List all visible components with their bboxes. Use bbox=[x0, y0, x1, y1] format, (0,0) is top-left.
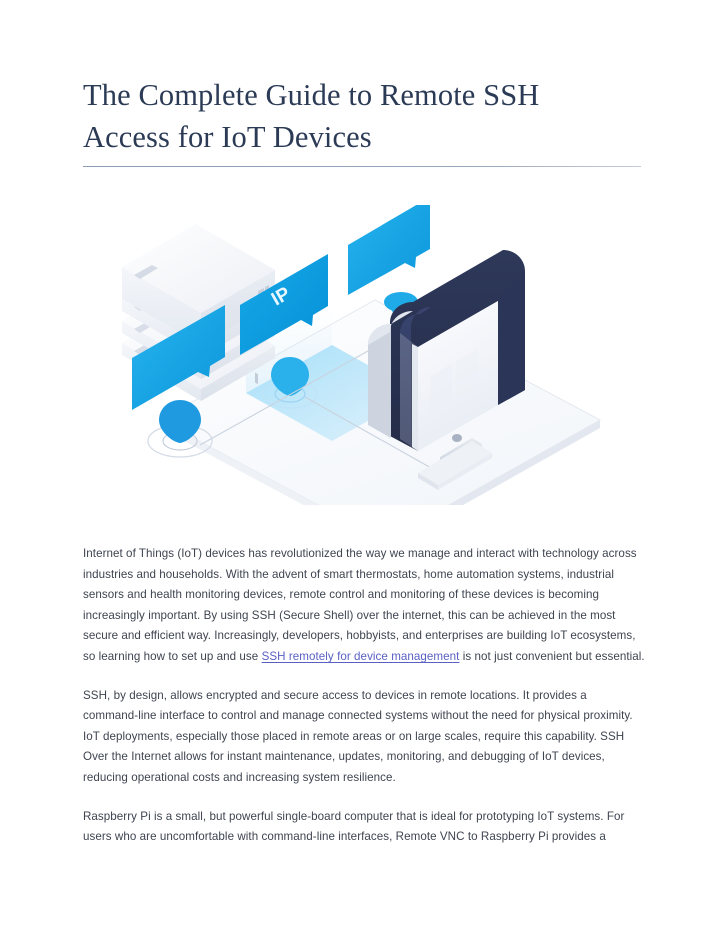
speech-bubble-right bbox=[348, 205, 430, 295]
document-page: The Complete Guide to Remote SSH Access … bbox=[0, 0, 720, 931]
ssh-remote-management-link[interactable]: SSH remotely for device management bbox=[262, 650, 460, 663]
title-divider bbox=[83, 166, 641, 167]
article-body: Internet of Things (IoT) devices has rev… bbox=[83, 544, 645, 848]
illustration-svg: IP bbox=[100, 205, 660, 505]
paragraph-3: Raspberry Pi is a small, but powerful si… bbox=[83, 807, 645, 848]
title-block: The Complete Guide to Remote SSH Access … bbox=[83, 74, 643, 158]
paragraph-1-text-b: is not just convenient but essential. bbox=[459, 650, 644, 663]
page-title: The Complete Guide to Remote SSH Access … bbox=[83, 74, 573, 158]
paragraph-1-text-a: Internet of Things (IoT) devices has rev… bbox=[83, 547, 637, 663]
paragraph-1: Internet of Things (IoT) devices has rev… bbox=[83, 544, 645, 668]
isometric-iot-illustration: IP bbox=[100, 205, 660, 505]
paragraph-2: SSH, by design, allows encrypted and sec… bbox=[83, 686, 645, 789]
